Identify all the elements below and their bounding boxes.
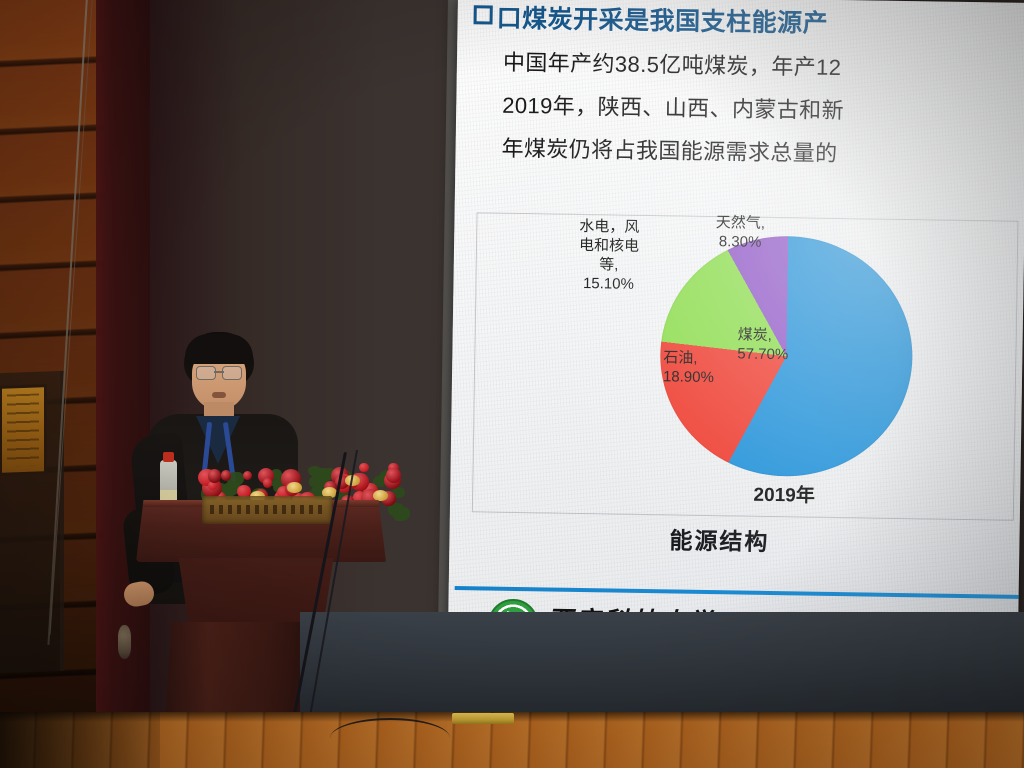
cable-weight xyxy=(118,625,131,659)
pie-label-natural-gas: 天然气, 8.30% xyxy=(685,213,796,253)
pie-label-oil-value: 18.90% xyxy=(663,367,763,388)
pie-label-oil: 石油, 18.90% xyxy=(663,348,764,388)
pie-label-renewables-line-2: 电和核电 xyxy=(557,236,661,257)
speaker-mouth xyxy=(212,392,226,398)
pie-label-oil-name: 石油, xyxy=(663,348,763,369)
footer-divider xyxy=(455,586,1019,599)
projection-screen-area: 口煤炭开采是我国支柱能源产 中国年产约38.5亿吨煤炭，年产12 2019年，陕… xyxy=(448,0,1024,671)
chart-caption: 能源结构 xyxy=(449,518,989,560)
pie-label-coal-name: 煤炭, xyxy=(738,325,848,346)
pie-label-renewables: 水电，风 电和核电 等, 15.10% xyxy=(556,217,661,295)
pie-label-renewables-value: 15.10% xyxy=(556,274,660,295)
square-bullet-icon xyxy=(474,5,493,24)
pie-label-renewables-line-1: 水电，风 xyxy=(557,217,661,238)
power-strip xyxy=(452,713,514,724)
slide-body: 中国年产约38.5亿吨煤炭，年产12 2019年，陕西、山西、内蒙古和新 年煤炭… xyxy=(501,41,1024,179)
chart-frame: 天然气, 8.30% 水电，风 电和核电 等, 15.10% 煤炭, 57.70… xyxy=(472,212,1019,520)
slide-heading-text: 口煤炭开采是我国支柱能源产 xyxy=(496,5,828,38)
glasses-icon xyxy=(196,366,242,378)
wall-poster xyxy=(2,387,44,472)
pie-year-label: 2019年 xyxy=(709,479,859,508)
stage-backdrop-lower xyxy=(300,612,1024,712)
slide-body-line-3: 年煤炭仍将占我国能源需求总量的 xyxy=(501,127,1024,179)
floor-shadow xyxy=(0,712,160,768)
speaker-fringe xyxy=(185,334,253,364)
photo-scene: 口煤炭开采是我国支柱能源产 中国年产约38.5亿吨煤炭，年产12 2019年，陕… xyxy=(0,0,1024,768)
pie-label-natural-gas-name: 天然气, xyxy=(685,213,795,234)
pie-label-natural-gas-value: 8.30% xyxy=(685,232,795,253)
pie-label-renewables-line-3: 等, xyxy=(557,255,661,276)
podium-nameplate xyxy=(202,496,332,524)
slide-heading: 口煤炭开采是我国支柱能源产 xyxy=(473,0,1024,43)
projection-screen: 口煤炭开采是我国支柱能源产 中国年产约38.5亿吨煤炭，年产12 2019年，陕… xyxy=(448,0,1024,665)
